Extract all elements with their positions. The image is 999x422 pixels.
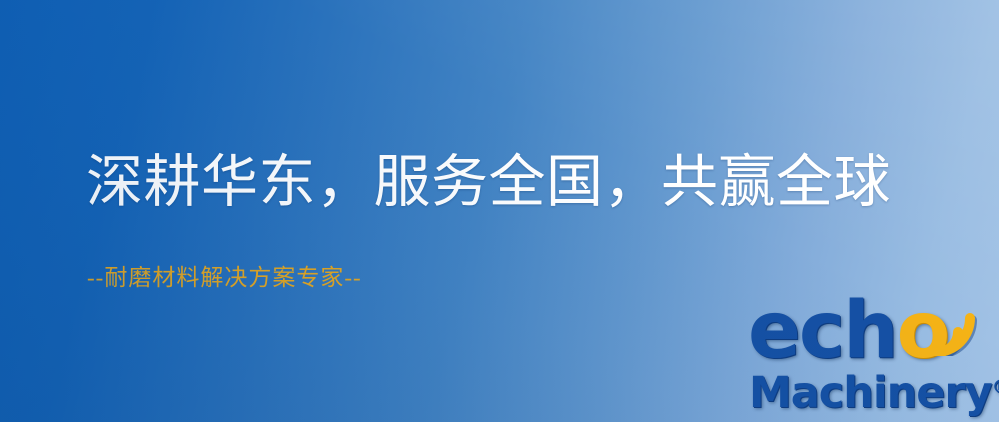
echo-machinery-logo[interactable]: echo Machinery® xyxy=(742,292,998,420)
logo-tagline-text: Machinery xyxy=(749,368,992,418)
wifi-signal-arcs-icon xyxy=(924,290,998,356)
banner-headline: 深耕华东，服务全国，共赢全球 xyxy=(86,154,891,211)
promo-banner: 深耕华东，服务全国，共赢全球 --耐磨材料解决方案专家-- echo Machi… xyxy=(0,0,999,422)
registered-trademark-icon: ® xyxy=(992,376,999,398)
logo-tagline: Machinery® xyxy=(749,366,999,415)
logo-wordmark-blue-text: ech xyxy=(748,286,897,376)
banner-subtitle: --耐磨材料解决方案专家-- xyxy=(87,266,362,289)
logo-wordmark: echo xyxy=(748,292,948,370)
